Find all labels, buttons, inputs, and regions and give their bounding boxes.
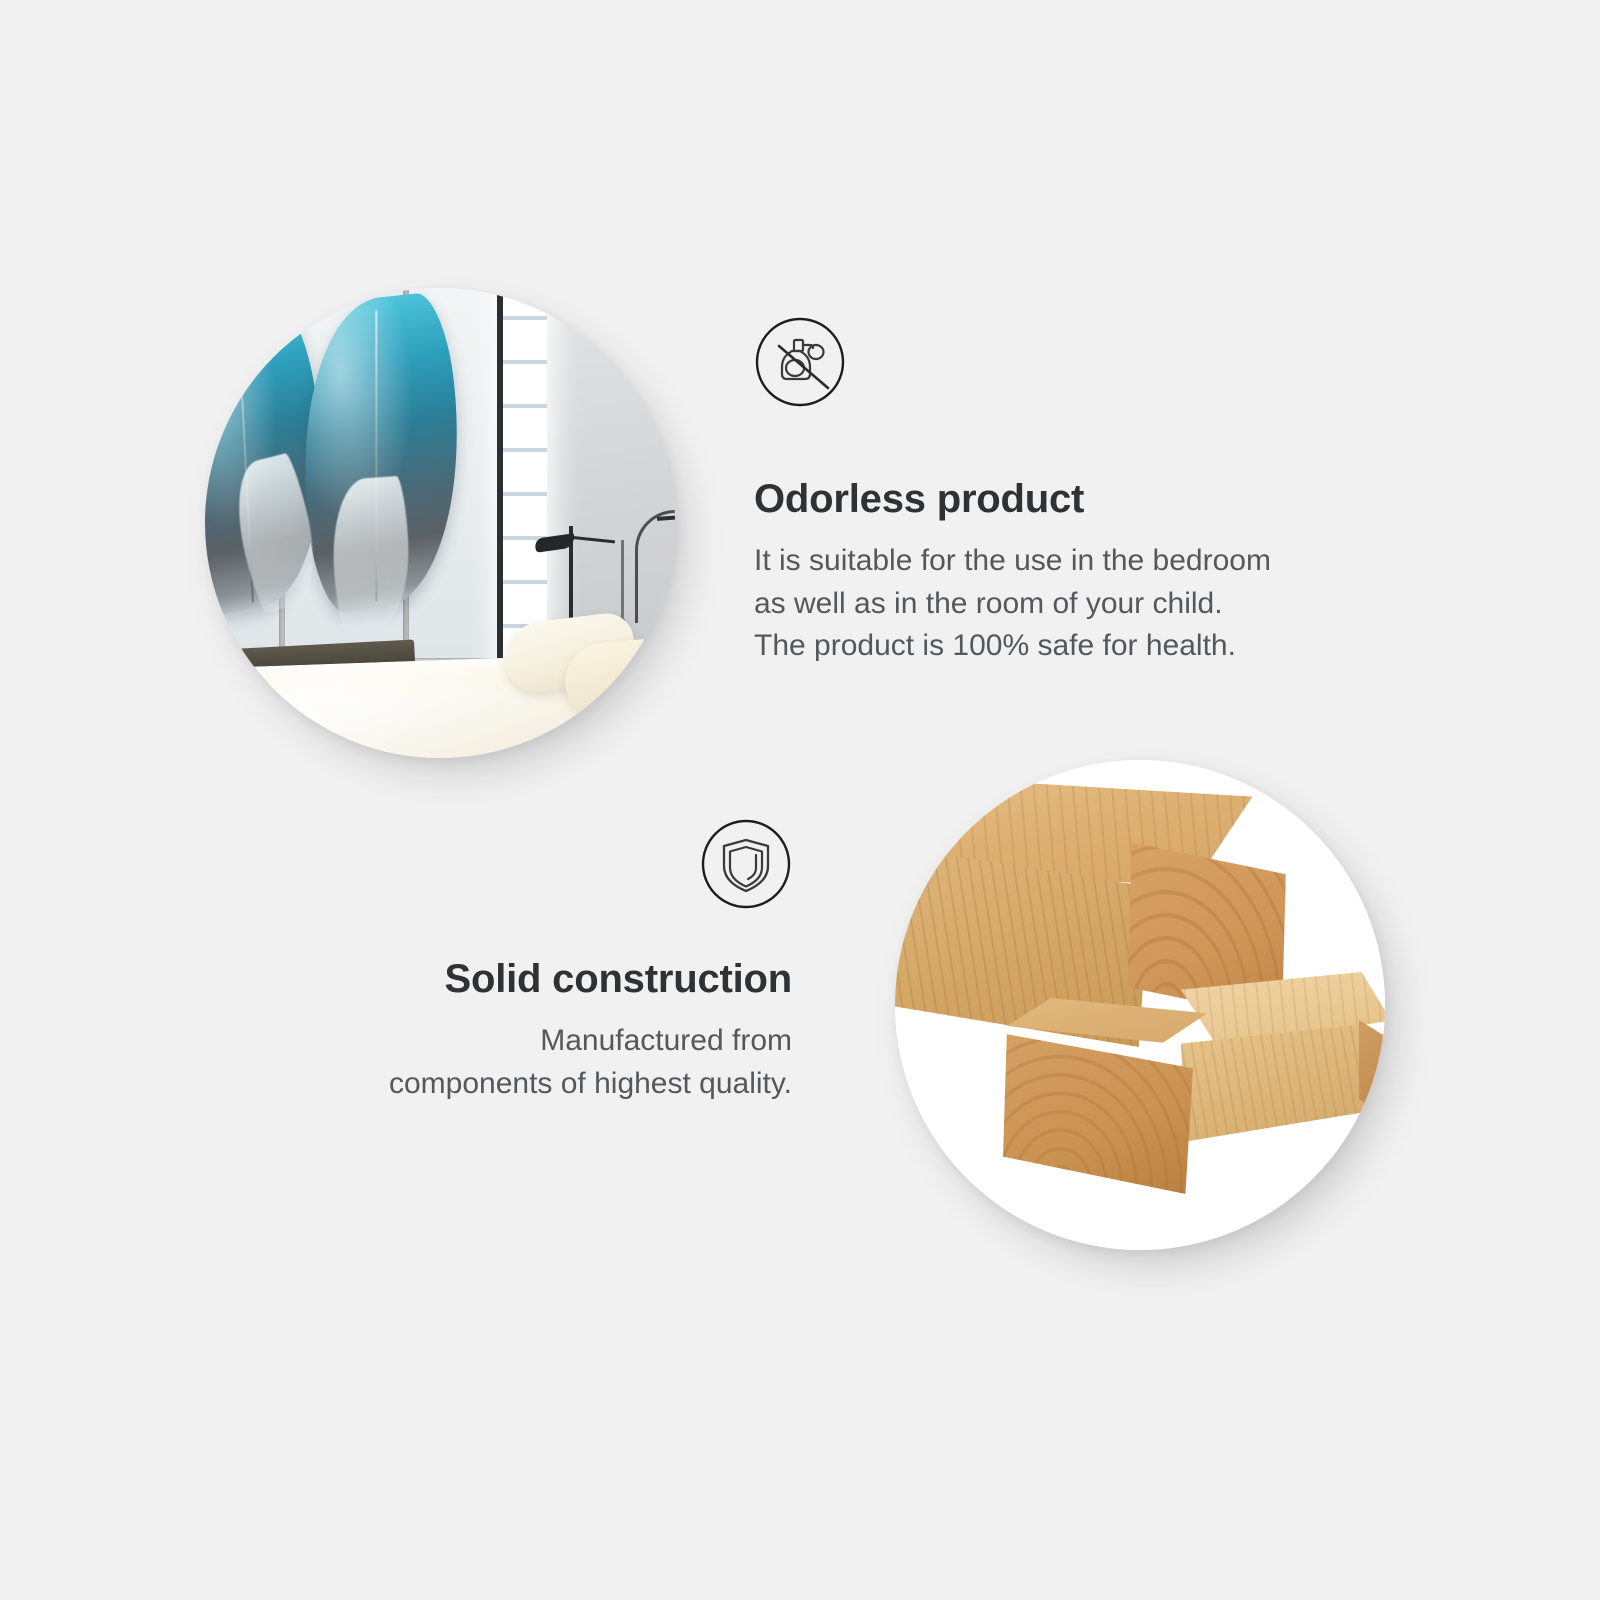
second-lamp-arm: [635, 510, 675, 623]
bedroom-scene: [205, 288, 675, 758]
beam-right-end-grain: [1359, 1020, 1385, 1140]
odorless-body-line-2: as well as in the room of your child.: [754, 583, 1434, 626]
no-perfume-icon: [754, 316, 846, 408]
solid-construction-body-line-1: Manufactured from: [262, 1020, 792, 1063]
solid-construction-title: Solid construction: [262, 958, 792, 1000]
odorless-body: It is suitable for the use in the bedroo…: [754, 540, 1434, 668]
solid-construction-feature-text: Solid construction Manufactured from com…: [262, 958, 792, 1105]
beam-front-end-grain: [1003, 1024, 1193, 1194]
bedroom-feather-canvas-photo: [205, 288, 675, 758]
solid-construction-body-line-2: components of highest quality.: [262, 1063, 792, 1106]
glass-block-window: [503, 288, 547, 672]
solid-construction-body: Manufactured from components of highest …: [262, 1020, 792, 1105]
shield-icon: [700, 818, 792, 910]
wooden-beams-photo: [895, 760, 1385, 1250]
wooden-beam-front: [1003, 998, 1253, 1208]
product-feature-infographic: Odorless product It is suitable for the …: [0, 0, 1600, 1600]
odorless-feature-text: Odorless product It is suitable for the …: [754, 478, 1434, 668]
odorless-body-line-1: It is suitable for the use in the bedroo…: [754, 540, 1434, 583]
odorless-body-line-3: The product is 100% safe for health.: [754, 625, 1434, 668]
odorless-title: Odorless product: [754, 478, 1434, 520]
wood-scene: [895, 760, 1385, 1250]
window-frame: [497, 288, 503, 676]
